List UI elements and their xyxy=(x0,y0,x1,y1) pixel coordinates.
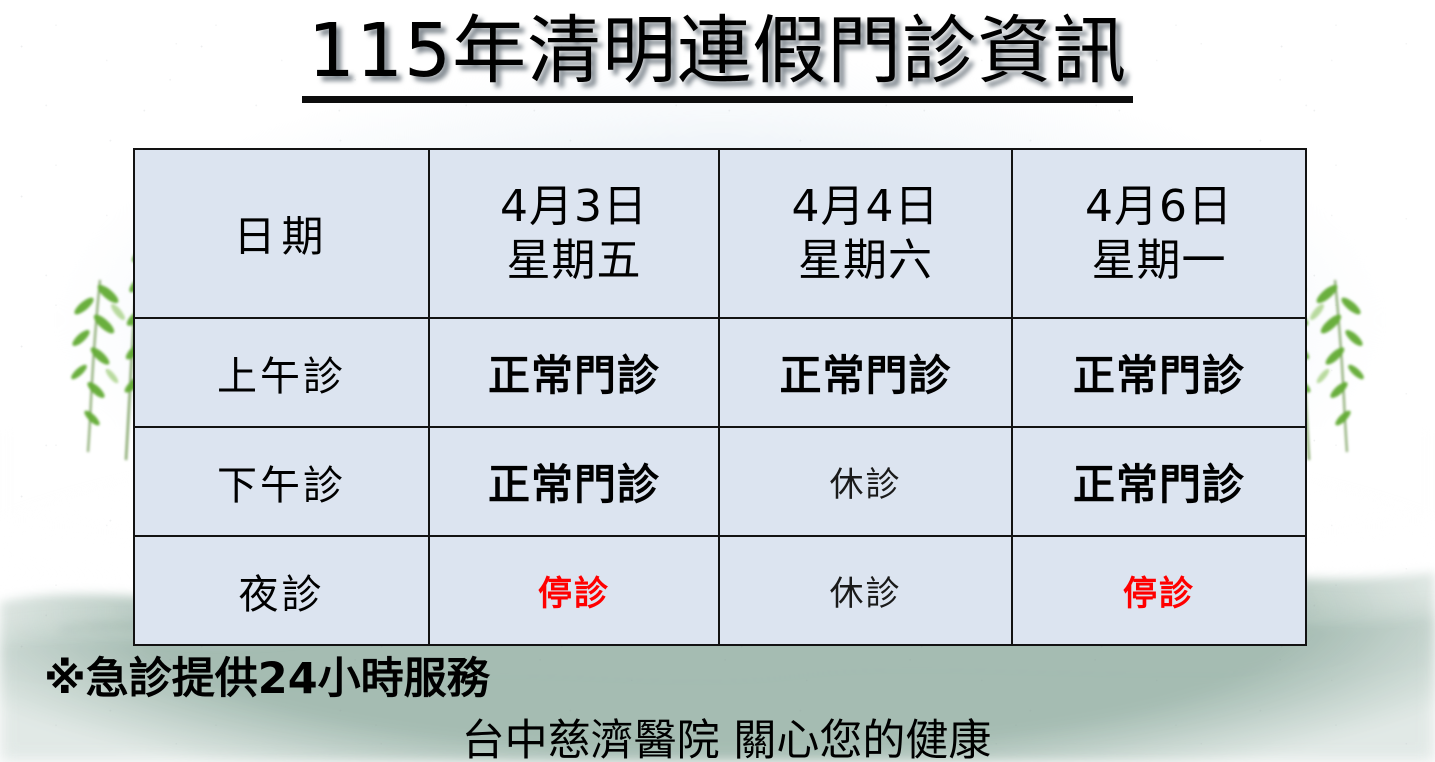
header-date-label-text: 日期 xyxy=(135,203,428,264)
cell-afternoon-day-2-text: 休診 xyxy=(720,457,1011,506)
cell-afternoon-day-3: 正常門診 xyxy=(1012,427,1306,536)
hospital-tagline: 台中慈濟醫院 關心您的健康 xyxy=(0,706,1435,762)
table-row-evening: 夜診 停診 休診 停診 xyxy=(134,536,1306,645)
cell-morning-day-3: 正常門診 xyxy=(1012,318,1306,427)
cell-afternoon-day-1-text: 正常門診 xyxy=(430,451,718,512)
row-label-evening: 夜診 xyxy=(134,536,429,645)
table-row-afternoon: 下午診 正常門診 休診 正常門診 xyxy=(134,427,1306,536)
header-day-3-weekday: 星期一 xyxy=(1013,234,1305,288)
header-cell-day-1: 4月3日 星期五 xyxy=(429,149,719,318)
cell-evening-day-1-text: 停診 xyxy=(430,566,718,615)
clinic-schedule-table: 日期 4月3日 星期五 4月4日 星期六 4月6日 xyxy=(133,148,1307,646)
page-title: 115年清明連假門診資訊 xyxy=(302,12,1133,103)
cell-evening-day-3: 停診 xyxy=(1012,536,1306,645)
header-day-1-text: 4月3日 星期五 xyxy=(430,180,718,287)
row-label-afternoon: 下午診 xyxy=(134,427,429,536)
title-container: 115年清明連假門診資訊 xyxy=(0,12,1435,103)
header-day-2-date: 4月4日 xyxy=(720,180,1011,234)
row-label-morning: 上午診 xyxy=(134,318,429,427)
cell-morning-day-1: 正常門診 xyxy=(429,318,719,427)
header-cell-day-2: 4月4日 星期六 xyxy=(719,149,1012,318)
emergency-note: ※急診提供24小時服務 xyxy=(44,644,490,706)
cell-morning-day-3-text: 正常門診 xyxy=(1013,342,1305,403)
cell-evening-day-3-text: 停診 xyxy=(1013,566,1305,615)
header-day-1-weekday: 星期五 xyxy=(430,234,718,288)
cell-afternoon-day-1: 正常門診 xyxy=(429,427,719,536)
header-cell-date-label: 日期 xyxy=(134,149,429,318)
cell-morning-day-2-text: 正常門診 xyxy=(720,342,1011,403)
row-label-morning-text: 上午診 xyxy=(135,344,428,402)
cell-evening-day-2-text: 休診 xyxy=(720,566,1011,615)
header-day-3-text: 4月6日 星期一 xyxy=(1013,180,1305,287)
cell-afternoon-day-2: 休診 xyxy=(719,427,1012,536)
cell-morning-day-2: 正常門診 xyxy=(719,318,1012,427)
header-cell-day-3: 4月6日 星期一 xyxy=(1012,149,1306,318)
header-day-1-date: 4月3日 xyxy=(430,180,718,234)
header-day-3-date: 4月6日 xyxy=(1013,180,1305,234)
cell-evening-day-1: 停診 xyxy=(429,536,719,645)
cell-morning-day-1-text: 正常門診 xyxy=(430,342,718,403)
header-day-2-weekday: 星期六 xyxy=(720,234,1011,288)
header-day-2-text: 4月4日 星期六 xyxy=(720,180,1011,287)
cell-evening-day-2: 休診 xyxy=(719,536,1012,645)
poster-canvas: 115年清明連假門診資訊 日期 4月3日 星期五 4月4日 xyxy=(0,0,1435,762)
cell-afternoon-day-3-text: 正常門診 xyxy=(1013,451,1305,512)
table-row-morning: 上午診 正常門診 正常門診 正常門診 xyxy=(134,318,1306,427)
row-label-evening-text: 夜診 xyxy=(135,562,428,620)
table-header-row: 日期 4月3日 星期五 4月4日 星期六 4月6日 xyxy=(134,149,1306,318)
row-label-afternoon-text: 下午診 xyxy=(135,453,428,511)
